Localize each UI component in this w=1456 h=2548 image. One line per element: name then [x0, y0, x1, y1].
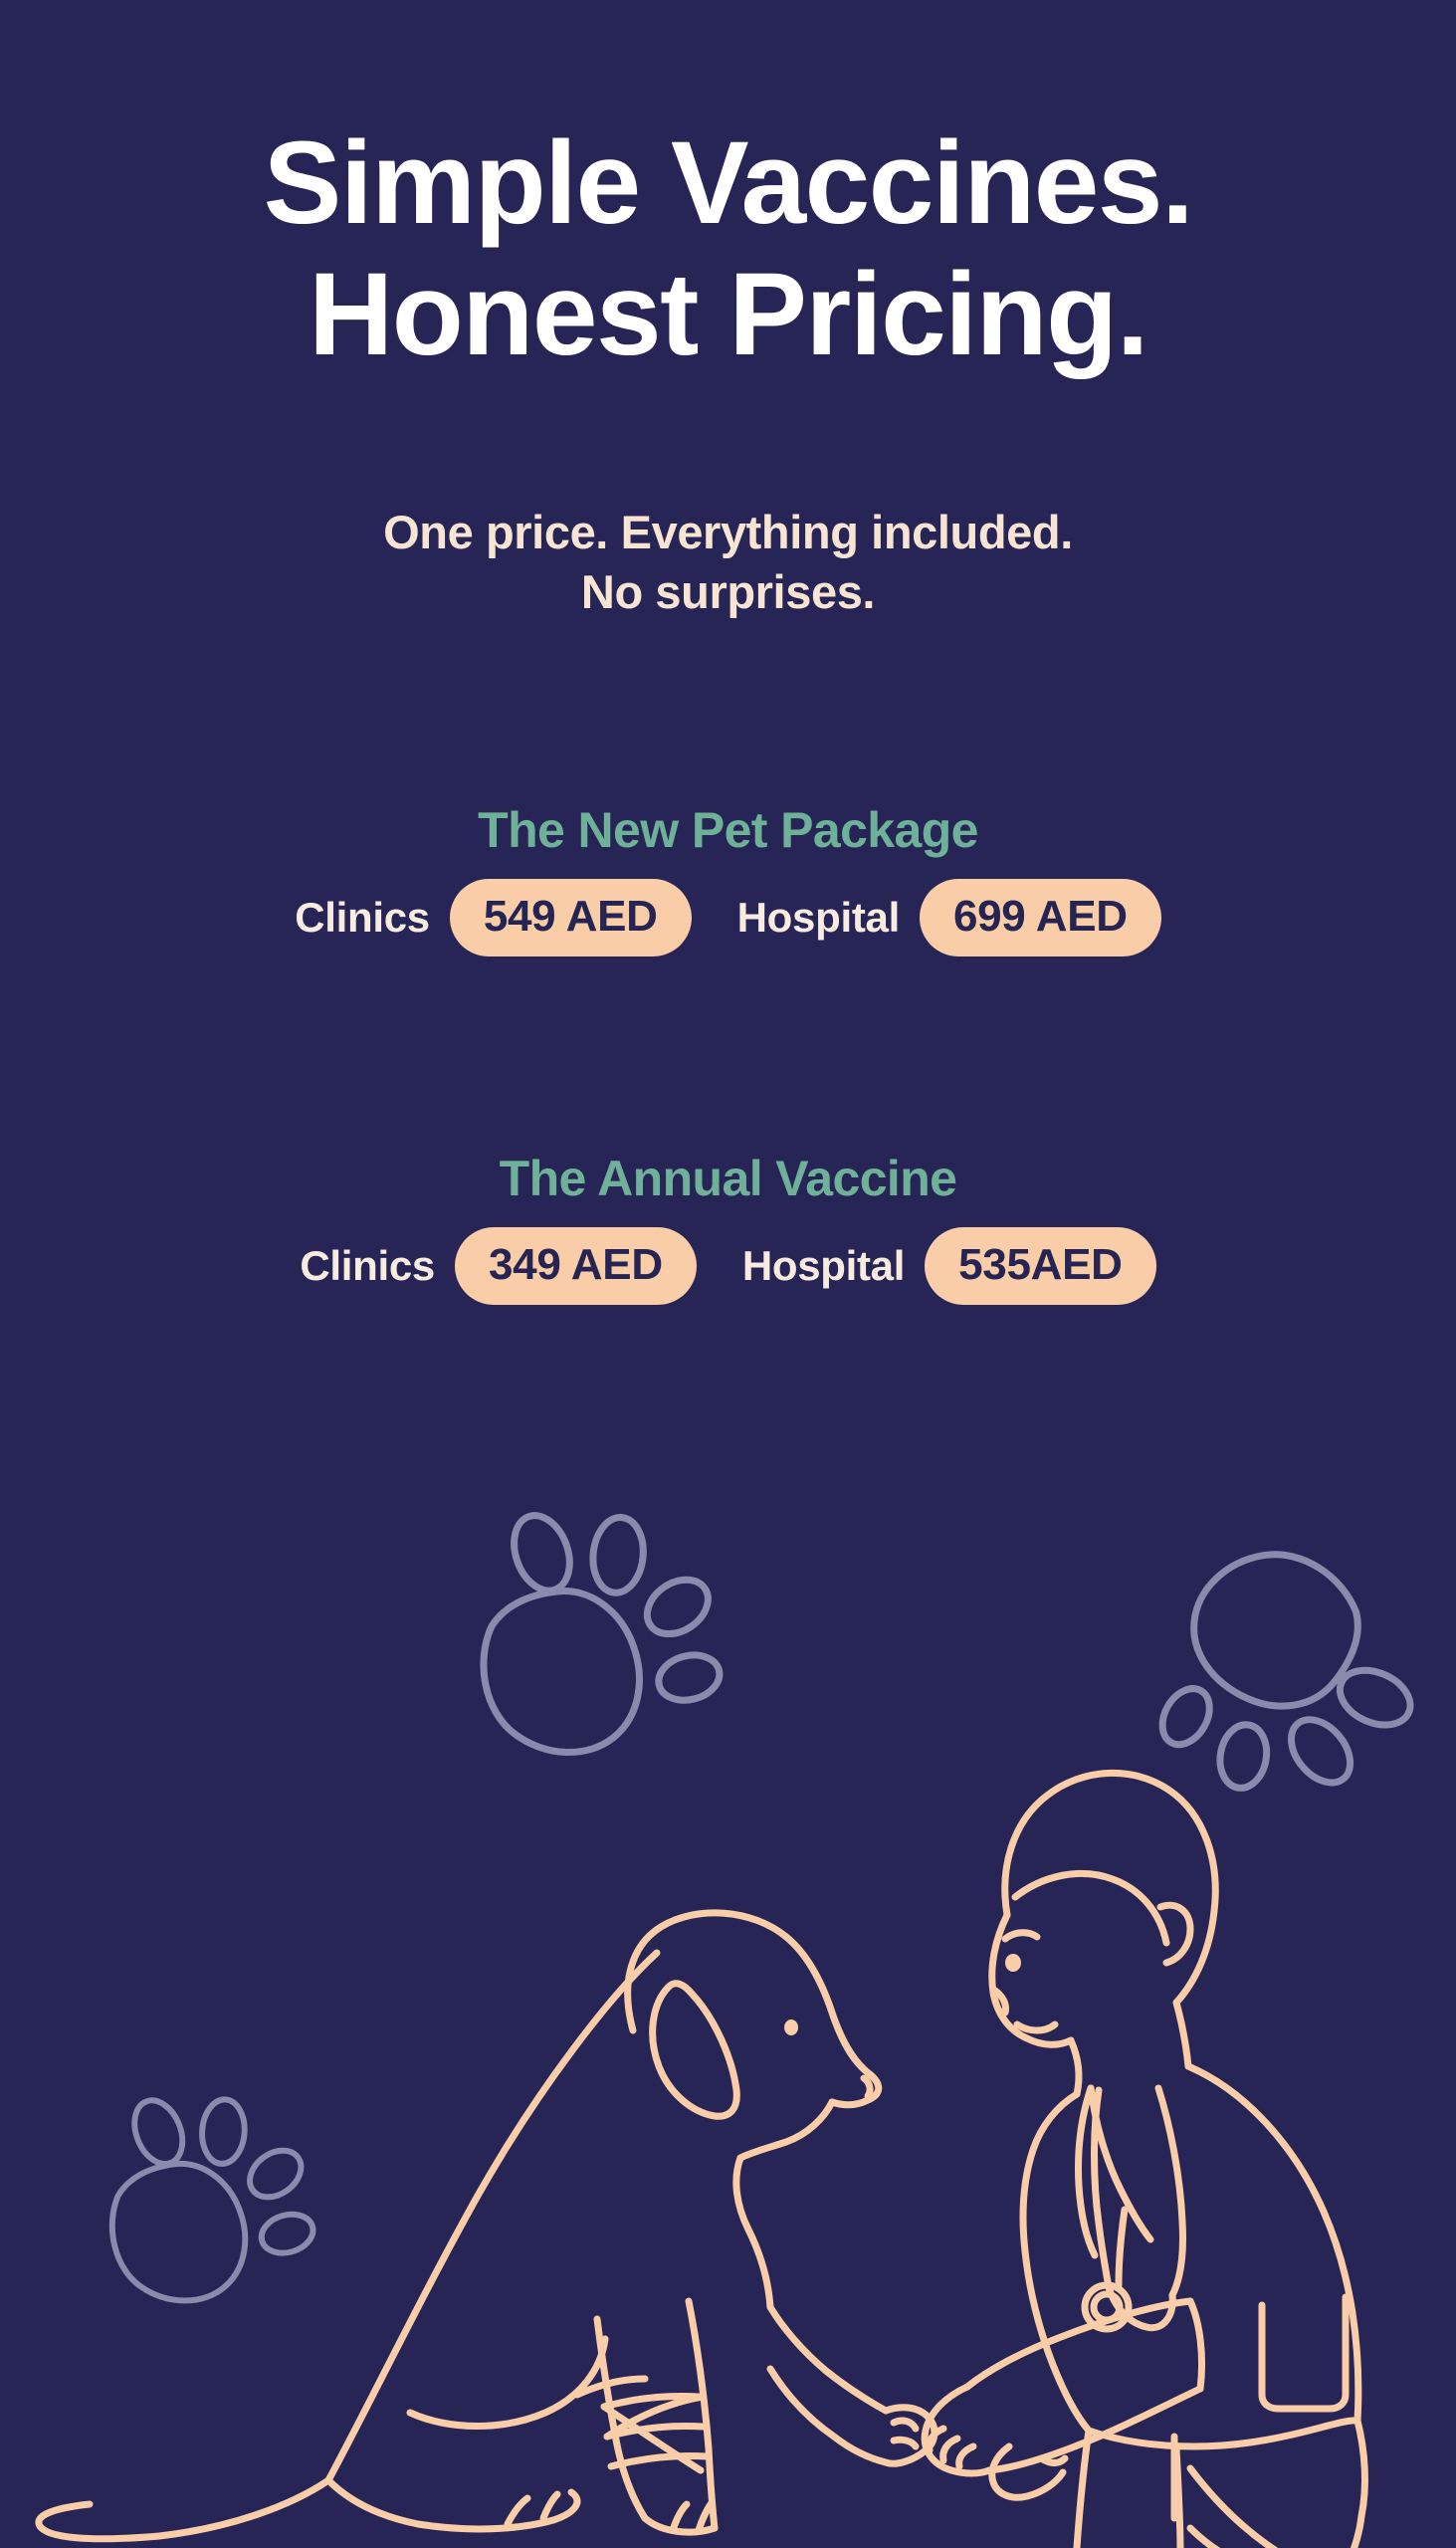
price-pill[interactable]: 549 AED [450, 879, 692, 956]
headline-line-1: Simple Vaccines. [0, 117, 1456, 249]
venue-label: Hospital [742, 1242, 905, 1290]
venue-label: Clinics [300, 1242, 435, 1290]
price-item-clinics[interactable]: Clinics 349 AED [300, 1227, 696, 1305]
venue-label: Hospital [737, 894, 900, 942]
pricing-block-annual-vaccine: The Annual Vaccine Clinics 349 AED Hospi… [0, 1150, 1456, 1305]
page-title: Simple Vaccines. Honest Pricing. [0, 117, 1456, 380]
price-item-clinics[interactable]: Clinics 549 AED [295, 879, 691, 956]
price-pill[interactable]: 349 AED [455, 1227, 697, 1305]
paw-print-bottom-left [95, 2075, 325, 2310]
price-pill[interactable]: 535AED [925, 1227, 1156, 1305]
page-subtitle: One price. Everything included. No surpr… [0, 503, 1456, 622]
price-item-hospital[interactable]: Hospital 535AED [742, 1227, 1156, 1305]
venue-label: Clinics [295, 894, 430, 942]
price-row: Clinics 549 AED Hospital 699 AED [0, 879, 1456, 956]
paw-print-top-right [1116, 1521, 1450, 1854]
paw-print-top-left [468, 1492, 731, 1761]
price-row: Clinics 349 AED Hospital 535AED [0, 1227, 1456, 1305]
subtitle-line-1: One price. Everything included. [0, 503, 1456, 562]
plan-title: The New Pet Package [0, 801, 1456, 859]
price-item-hospital[interactable]: Hospital 699 AED [737, 879, 1161, 956]
poster-canvas: Simple Vaccines. Honest Pricing. One pri… [0, 0, 1456, 2548]
pricing-block-new-pet-package: The New Pet Package Clinics 549 AED Hosp… [0, 801, 1456, 956]
veterinarian-kneeling [925, 1773, 1426, 2548]
price-pill[interactable]: 699 AED [920, 879, 1161, 956]
dog-sitting [39, 1913, 935, 2539]
plan-title: The Annual Vaccine [0, 1150, 1456, 1207]
headline-line-2: Honest Pricing. [0, 249, 1456, 380]
subtitle-line-2: No surprises. [0, 562, 1456, 622]
vet-and-dog-illustration [0, 1393, 1456, 2548]
